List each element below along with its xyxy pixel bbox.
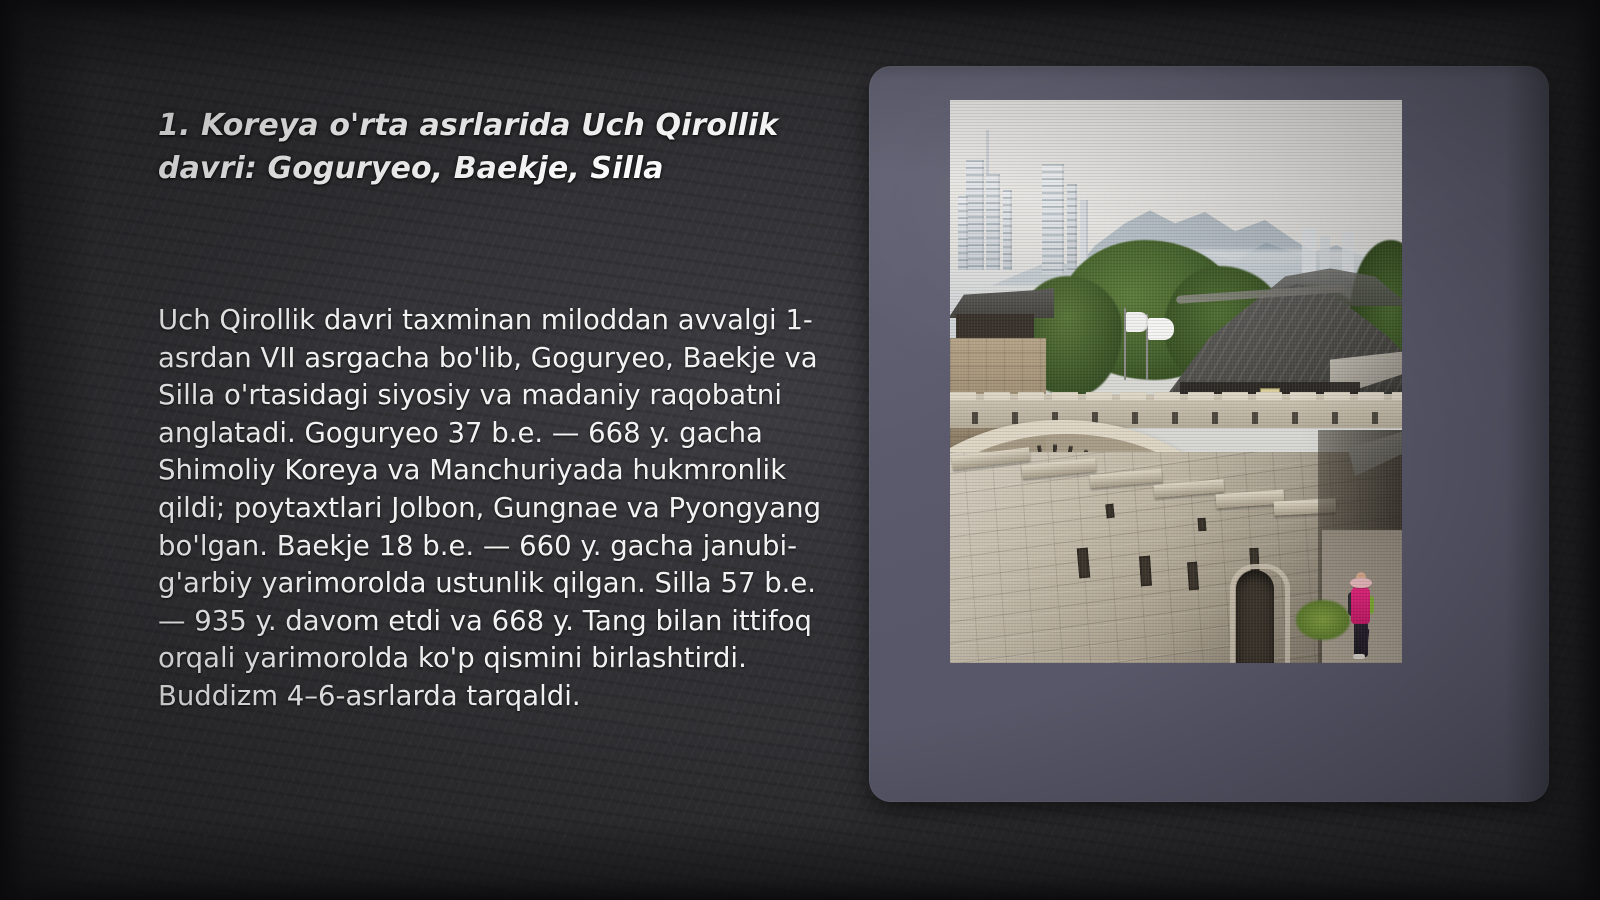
- text-column: 1. Koreya o'rta asrlarida Uch Qirollik d…: [158, 104, 830, 190]
- photo-gate-arch-ring: [1230, 564, 1290, 663]
- photo-building: [1042, 164, 1064, 274]
- slide-canvas: 1. Koreya o'rta asrlarida Uch Qirollik d…: [0, 0, 1600, 900]
- photo-loophole: [1105, 504, 1114, 519]
- fortress-photo: [950, 100, 1402, 663]
- slide-body-paragraph: Uch Qirollik davri taxminan miloddan avv…: [158, 302, 838, 716]
- photo-building: [986, 174, 1000, 270]
- slide-title: 1. Koreya o'rta asrlarida Uch Qirollik d…: [158, 104, 818, 190]
- photo-crenellations: [950, 392, 1402, 400]
- photo-building: [966, 160, 984, 270]
- photo-loophole: [1139, 556, 1152, 587]
- photo-flag: [1148, 318, 1174, 340]
- photo-person-hat: [1350, 578, 1372, 588]
- photo-building: [1067, 184, 1077, 274]
- photo-wall-loopholes: [950, 412, 1402, 424]
- photo-grass: [1296, 600, 1350, 640]
- photo-person-shoe: [1353, 654, 1365, 659]
- photo-building: [1003, 190, 1012, 270]
- photo-loophole: [1198, 518, 1207, 532]
- photo-building: [958, 196, 968, 270]
- photo-person-jacket: [1351, 586, 1370, 624]
- photo-loophole: [1187, 562, 1199, 591]
- image-frame: [869, 66, 1549, 802]
- photo-flag: [1126, 312, 1148, 332]
- photo-antenna: [986, 130, 989, 174]
